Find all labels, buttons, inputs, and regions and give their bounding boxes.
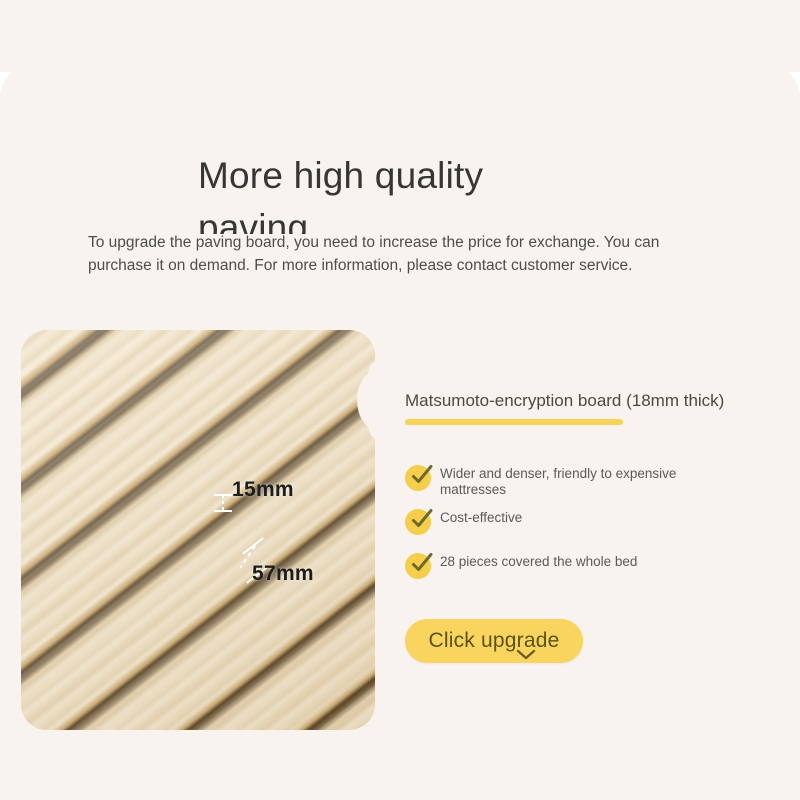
check-icon [405, 553, 431, 579]
cta-container: Click upgrade [405, 619, 583, 663]
click-upgrade-button[interactable]: Click upgrade [405, 619, 583, 663]
title-underline [405, 419, 623, 425]
product-info-panel: Matsumoto-encryption board (18mm thick) … [405, 390, 775, 663]
dimension-label-57mm: 57mm [252, 562, 314, 586]
dimension-label-15mm: 15mm [232, 478, 294, 502]
feature-text: Wider and denser, friendly to expensive … [440, 463, 730, 497]
page-heading-clip: More high quality paving [0, 150, 800, 234]
feature-list: Wider and denser, friendly to expensive … [405, 463, 775, 585]
product-detail-page: More high quality paving To upgrade the … [0, 0, 800, 800]
page-description: To upgrade the paving board, you need to… [88, 231, 688, 277]
product-photo[interactable] [21, 330, 375, 730]
check-icon [405, 509, 431, 535]
product-photo-notch-inner [366, 362, 388, 438]
list-item: 28 pieces covered the whole bed [405, 551, 775, 585]
page-top-strip [0, 0, 800, 72]
check-icon [405, 465, 431, 491]
feature-text: Cost-effective [440, 507, 522, 526]
list-item: Wider and denser, friendly to expensive … [405, 463, 775, 497]
list-item: Cost-effective [405, 507, 775, 541]
product-photo-texture [21, 330, 375, 730]
dimension-line-15 [222, 495, 224, 511]
page-title: More high quality paving [198, 150, 618, 234]
feature-text: 28 pieces covered the whole bed [440, 551, 637, 570]
dimension-cap-bottom-15 [214, 510, 232, 512]
product-variant-title: Matsumoto-encryption board (18mm thick) [405, 390, 775, 412]
